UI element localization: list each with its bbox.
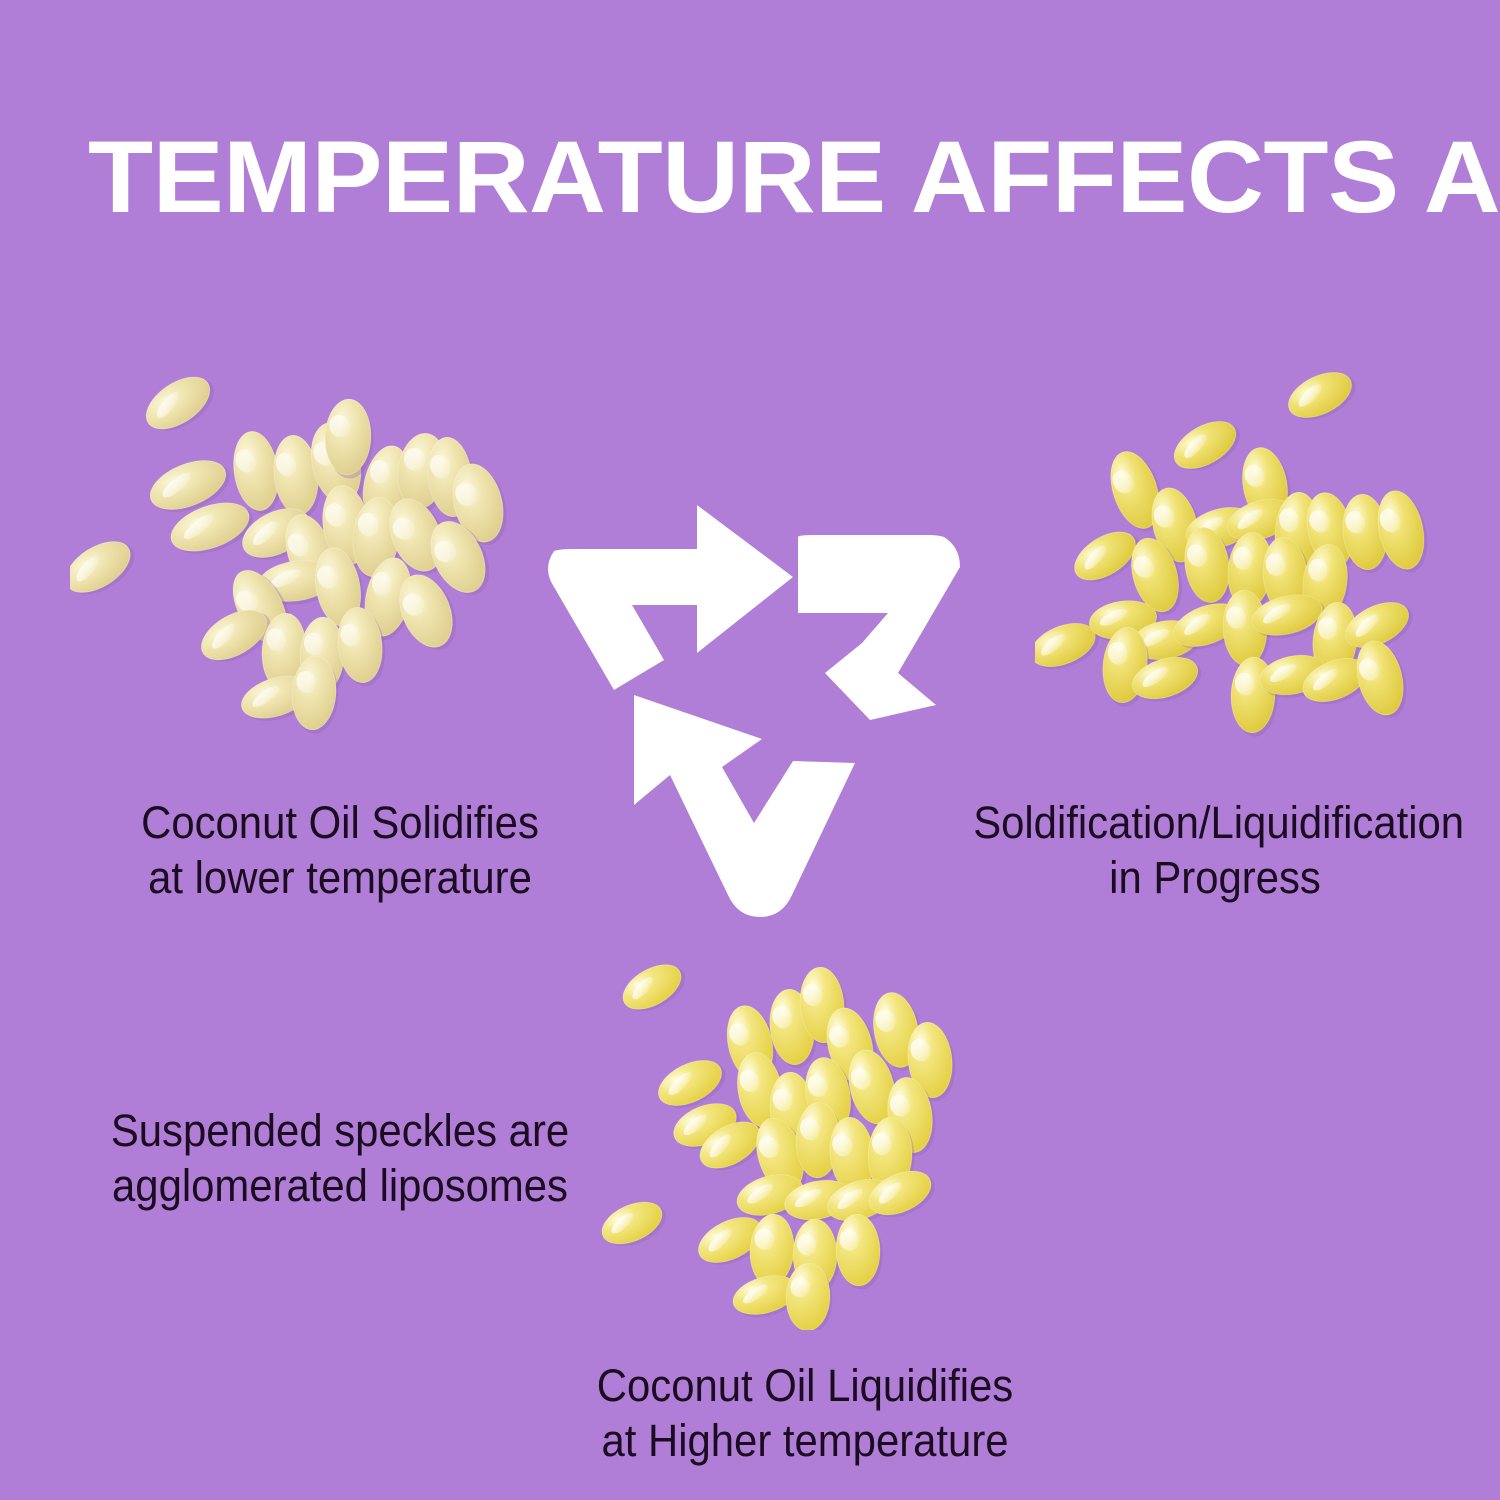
infographic-canvas: TEMPERATURE AFFECTS APPEARANCE [0,0,1500,1500]
page-title: TEMPERATURE AFFECTS APPEARANCE [88,126,1488,228]
liquid-capsules-cluster [600,955,990,1330]
transitioning-capsules-cluster [1035,360,1465,755]
caption-in-progress: Soldification/Liquidification in Progres… [973,795,1457,905]
caption-solidifies: Coconut Oil Solidifies at lower temperat… [75,795,605,905]
caption-liquidifies: Coconut Oil Liquidifies at Higher temper… [573,1358,1038,1468]
caption-speckles: Suspended speckles are agglomerated lipo… [94,1103,587,1213]
solidified-capsules-cluster [70,345,540,775]
